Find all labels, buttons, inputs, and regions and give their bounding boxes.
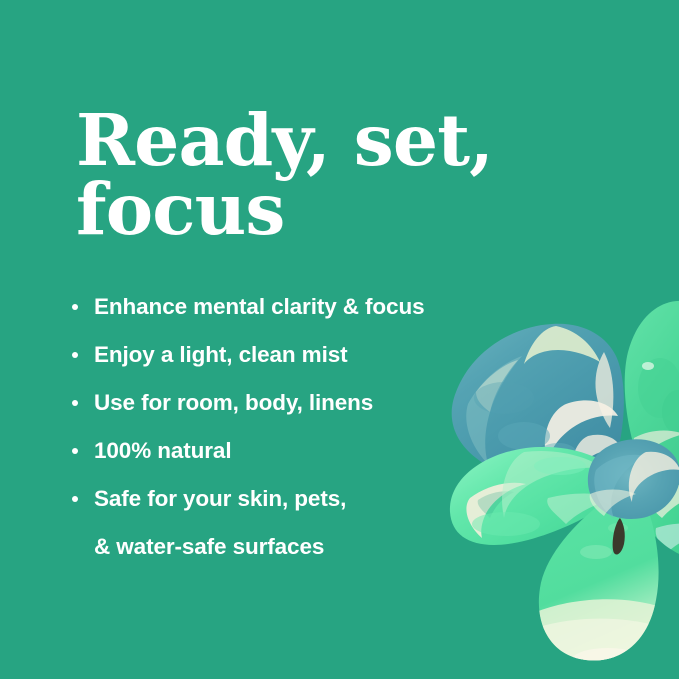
benefits-list: Enhance mental clarity & focus Enjoy a l… bbox=[72, 283, 542, 571]
headline-line-2: focus bbox=[76, 175, 596, 244]
list-item-label: Safe for your skin, pets, bbox=[94, 486, 346, 511]
poster-canvas: Ready, set, focus Enhance mental clarity… bbox=[0, 0, 679, 679]
bullet-dot-icon bbox=[72, 448, 78, 454]
bullet-dot-icon bbox=[72, 496, 78, 502]
list-item-label: Use for room, body, linens bbox=[94, 390, 373, 415]
list-item: Use for room, body, linens bbox=[72, 379, 542, 427]
list-item-label: Enhance mental clarity & focus bbox=[94, 294, 424, 319]
bullet-dot-icon bbox=[72, 352, 78, 358]
page-title: Ready, set, focus bbox=[76, 106, 596, 244]
list-item-continuation: & water-safe surfaces bbox=[72, 523, 542, 571]
list-item: Enjoy a light, clean mist bbox=[72, 331, 542, 379]
list-item: Enhance mental clarity & focus bbox=[72, 283, 542, 331]
bullet-dot-icon bbox=[72, 400, 78, 406]
list-item: 100% natural bbox=[72, 427, 542, 475]
list-item-label: Enjoy a light, clean mist bbox=[94, 342, 348, 367]
list-item: Safe for your skin, pets, bbox=[72, 475, 542, 523]
bullet-dot-icon bbox=[72, 304, 78, 310]
poster-content: Ready, set, focus Enhance mental clarity… bbox=[0, 0, 679, 679]
list-item-label: 100% natural bbox=[94, 438, 231, 463]
headline-line-1: Ready, set, bbox=[76, 106, 596, 175]
list-item-label: & water-safe surfaces bbox=[94, 534, 324, 559]
